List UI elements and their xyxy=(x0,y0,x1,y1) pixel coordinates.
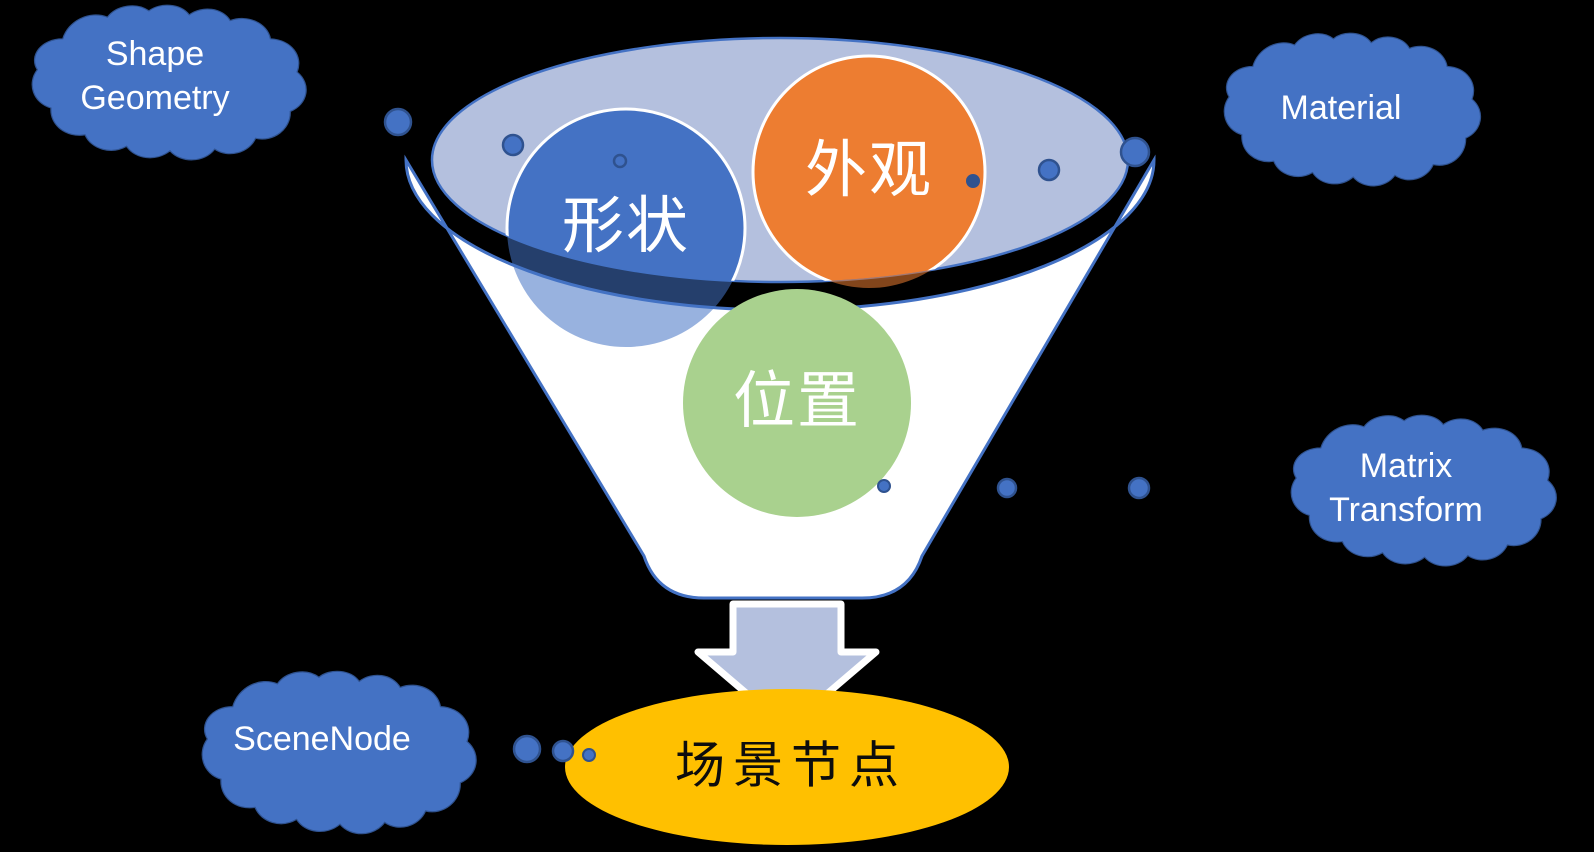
cloud-label-line-1: Shape xyxy=(106,35,204,73)
circle-label-shape: 形状 xyxy=(562,189,690,262)
tail-dot xyxy=(583,749,595,761)
tail-dot xyxy=(1039,160,1059,180)
funnel: 形状 外观 位置 xyxy=(406,38,1154,598)
cloud-material[interactable]: Material xyxy=(1224,33,1480,186)
cloud-matrix-transform[interactable]: Matrix Transform xyxy=(1291,415,1556,566)
funnel-diagram-svg: Shape Geometry Material Matrix Transform… xyxy=(0,0,1594,852)
cloud-scenenode[interactable]: SceneNode xyxy=(202,671,476,833)
tail-dot xyxy=(967,175,979,187)
circle-label-position: 位置 xyxy=(733,364,861,437)
diagram-canvas: Shape Geometry Material Matrix Transform… xyxy=(0,0,1594,852)
tail-dot xyxy=(514,736,540,762)
circle-label-appearance: 外观 xyxy=(805,133,933,206)
tail-dot xyxy=(385,109,411,135)
cloud-label-line-2: Geometry xyxy=(80,79,229,117)
tail-dot xyxy=(553,741,573,761)
cloud-label-line-1: SceneNode xyxy=(233,720,411,758)
result-label: 场景节点 xyxy=(675,737,907,795)
result-node[interactable]: 场景节点 xyxy=(565,689,1009,845)
cloud-shape-geometry[interactable]: Shape Geometry xyxy=(32,5,306,160)
tail-dot xyxy=(878,480,890,492)
cloud-label-line-1: Material xyxy=(1281,89,1402,127)
tail-dot xyxy=(1129,478,1149,498)
tail-dot xyxy=(1121,138,1149,166)
cloud-label-line-2: Transform xyxy=(1329,491,1483,529)
tail-dot xyxy=(503,135,523,155)
cloud-label-line-1: Matrix xyxy=(1360,447,1453,485)
tail-dot xyxy=(998,479,1016,497)
